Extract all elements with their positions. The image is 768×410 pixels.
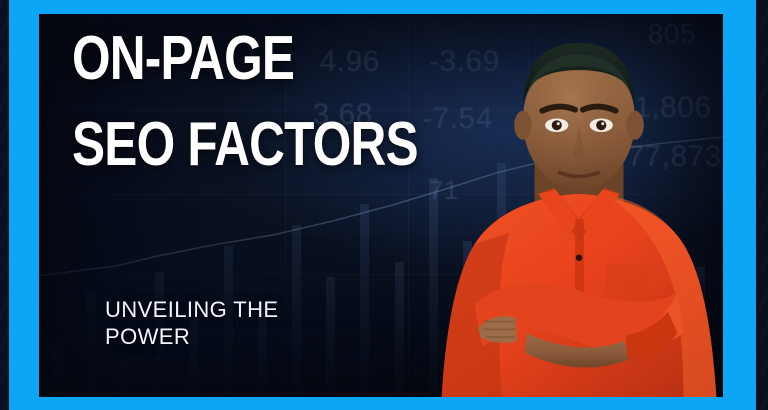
headline: ON-PAGE SEO FACTORS	[72, 30, 504, 173]
headline-line-1: ON-PAGE	[72, 30, 418, 88]
content-panel: 4.96 -3.69 354 805 3.68 -7.54 20,3 1,806…	[39, 14, 723, 397]
subtitle: UNVEILING THE POWER	[105, 297, 279, 351]
headline-line-2: SEO FACTORS	[72, 116, 418, 174]
accent-border-frame: 4.96 -3.69 354 805 3.68 -7.54 20,3 1,806…	[9, 0, 756, 410]
subtitle-line-2: POWER	[105, 324, 279, 351]
youtube-thumbnail: 4.96 -3.69 354 805 3.68 -7.54 20,3 1,806…	[0, 0, 768, 410]
subtitle-line-1: UNVEILING THE	[105, 297, 279, 324]
